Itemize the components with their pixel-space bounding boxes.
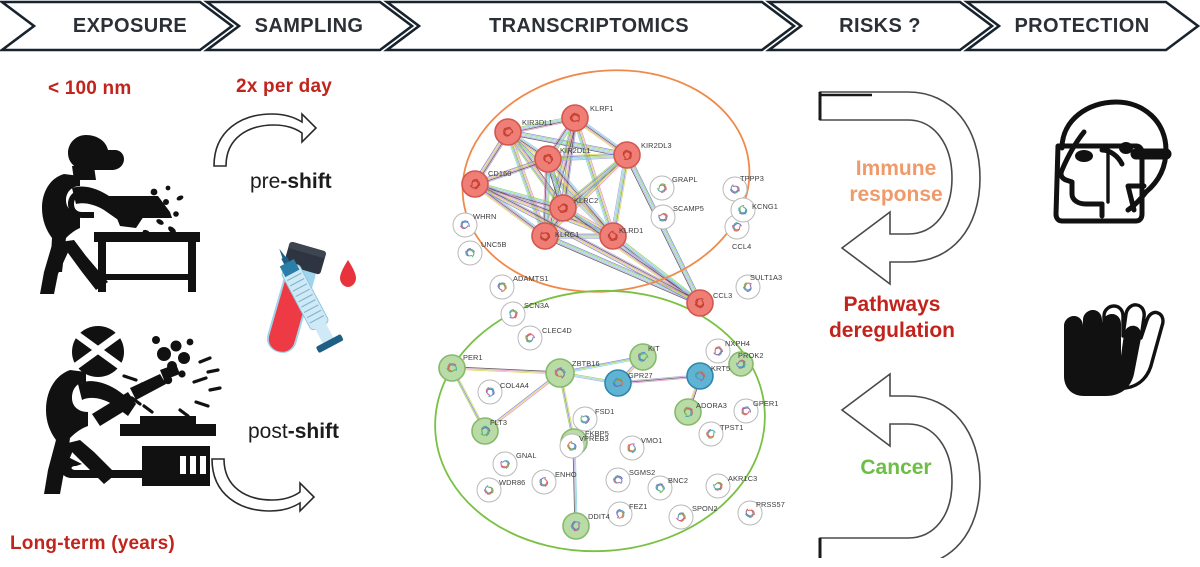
- pathways-deregulation-label: Pathways deregulation: [796, 292, 988, 343]
- gene-label-prok2: PROK2: [738, 351, 764, 360]
- gene-label-ddit4: DDIT4: [588, 512, 610, 521]
- gene-label-sgms2: SGMS2: [629, 468, 655, 477]
- network-node: [532, 470, 556, 494]
- gene-label-grapl: GRAPL: [672, 175, 698, 184]
- network-node: [518, 326, 542, 350]
- face-shield-icon: [1028, 90, 1178, 240]
- immune-response-label: Immune response: [812, 156, 980, 207]
- banner-step-sampling[interactable]: SAMPLING: [234, 0, 384, 52]
- gene-label-klrd1: KLRD1: [619, 226, 643, 235]
- gene-label-fsd1: FSD1: [595, 407, 614, 416]
- process-banner: EXPOSURE SAMPLING TRANSCRIPTOMICS RISKS …: [0, 0, 1200, 52]
- gene-label-krt5: KRT5: [711, 364, 730, 373]
- gene-label-spon2: SPON2: [692, 504, 718, 513]
- ventilation-fan-icon: [1052, 440, 1162, 550]
- sampling-frequency-label: 2x per day: [236, 76, 332, 98]
- network-node: [669, 505, 693, 529]
- network-node: [562, 105, 588, 131]
- gene-label-kit: KIT: [648, 344, 660, 353]
- gene-label-ccl3: CCL3: [713, 291, 732, 300]
- gene-label-akr1c3: AKR1C3: [728, 474, 757, 483]
- gene-label-prss57: PRSS57: [756, 500, 785, 509]
- cancer-label: Cancer: [812, 455, 980, 481]
- gene-label-vmo1: VMO1: [641, 436, 662, 445]
- gene-label-scamp5: SCAMP5: [673, 204, 704, 213]
- post-shift-suffix: -shift: [288, 420, 339, 443]
- gene-label-flt3: FLT3: [490, 418, 507, 427]
- gene-label-klrc2: KLRC2: [574, 196, 598, 205]
- network-node: [535, 146, 561, 172]
- gene-label-tpst1: TPST1: [720, 423, 744, 432]
- post-shift-label: post-shift: [248, 420, 339, 444]
- banner-step-protection[interactable]: PROTECTION: [994, 0, 1170, 52]
- gene-label-adamts1: ADAMTS1: [513, 274, 549, 283]
- gene-label-enho: ENHO: [555, 470, 577, 479]
- network-node: [458, 241, 482, 265]
- gene-label-kir3dl1: KIR3DL1: [522, 118, 553, 127]
- gene-label-vpreb3: VPREB3: [579, 434, 609, 443]
- gene-label-nxph4: NXPH4: [725, 339, 750, 348]
- exposure-duration-label: Long-term (years): [10, 533, 175, 555]
- network-node: [706, 474, 730, 498]
- curved-arrow-down-icon: [208, 108, 318, 170]
- pre-shift-label: pre-shift: [250, 170, 332, 194]
- network-node: [462, 171, 488, 197]
- blood-tube-syringe-icon: [236, 238, 366, 378]
- gene-label-klrf1: KLRF1: [590, 104, 614, 113]
- gene-label-fez1: FEZ1: [629, 502, 647, 511]
- curved-arrow-up-icon: [206, 455, 318, 517]
- network-node: [493, 452, 517, 476]
- network-node: [495, 119, 521, 145]
- string-network-diagram: KIR3DL1KLRF1KIR2DL1KIR2DL3CD160KLRC2KLRC…: [400, 56, 810, 567]
- banner-step-risks[interactable]: RISKS ?: [796, 0, 964, 52]
- gene-label-bnc2: BNC2: [668, 476, 688, 485]
- network-node: [563, 513, 589, 539]
- network-node: [573, 407, 597, 431]
- network-node: [439, 355, 465, 381]
- gene-label-col4a4: COL4A4: [500, 381, 529, 390]
- gene-label-kcng1: KCNG1: [752, 202, 778, 211]
- network-node: [687, 290, 713, 316]
- network-node: [490, 275, 514, 299]
- graphical-abstract: EXPOSURE SAMPLING TRANSCRIPTOMICS RISKS …: [0, 0, 1200, 567]
- gene-label-zbtb16: ZBTB16: [572, 359, 600, 368]
- network-node: [501, 302, 525, 326]
- pre-shift-suffix: -shift: [280, 170, 331, 193]
- banner-step-transcriptomics[interactable]: TRANSCRIPTOMICS: [414, 0, 764, 52]
- gene-label-klrc1: KLRC1: [555, 230, 579, 239]
- gene-label-gper1: GPER1: [753, 399, 779, 408]
- gene-label-gpr27: GPR27: [628, 371, 653, 380]
- gene-label-wdr86: WDR86: [499, 478, 525, 487]
- network-node: [650, 176, 674, 200]
- gene-label-tppp3: TPPP3: [740, 174, 764, 183]
- banner-step-exposure[interactable]: EXPOSURE: [30, 0, 230, 52]
- network-node: [546, 359, 574, 387]
- post-shift-prefix: post: [248, 420, 288, 443]
- worker-welding-icon: [24, 318, 234, 498]
- gene-label-whrn: WHRN: [473, 212, 496, 221]
- network-node: [550, 195, 576, 221]
- network-node: [478, 380, 502, 404]
- gene-label-gnal: GNAL: [516, 451, 537, 460]
- network-node: [651, 205, 675, 229]
- gene-label-kir2dl1: KIR2DL1: [560, 146, 591, 155]
- gene-label-scn3a: SCN3A: [524, 301, 549, 310]
- gene-label-adora3: ADORA3: [696, 401, 727, 410]
- gene-label-kir2dl3: KIR2DL3: [641, 141, 672, 150]
- gene-label-sult1a3: SULT1A3: [750, 273, 782, 282]
- worker-sanding-icon: [20, 122, 220, 297]
- network-node: [606, 468, 630, 492]
- network-node: [614, 142, 640, 168]
- nanoparticle-size-label: < 100 nm: [48, 78, 131, 100]
- gene-label-cd160: CD160: [488, 169, 512, 178]
- gene-label-ccl4: CCL4: [732, 242, 751, 251]
- network-node: [687, 363, 713, 389]
- safety-gloves-icon: [1048, 300, 1166, 408]
- gene-label-per1: PER1: [463, 353, 483, 362]
- pre-shift-prefix: pre: [250, 170, 280, 193]
- gene-label-clec4d: CLEC4D: [542, 326, 572, 335]
- gene-label-unc5b: UNC5B: [481, 240, 507, 249]
- network-node: [477, 478, 501, 502]
